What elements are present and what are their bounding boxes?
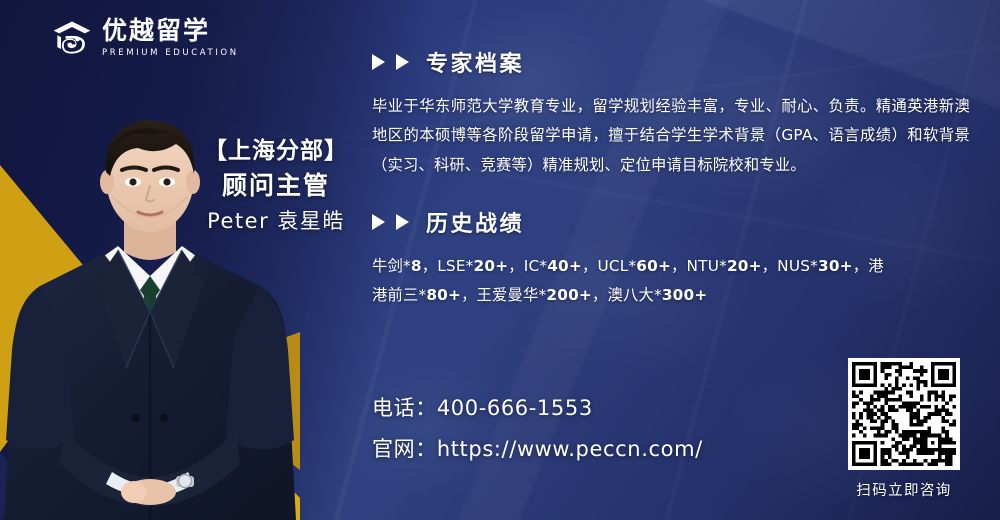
record-count: 20+	[727, 257, 762, 275]
record-separator: ，	[422, 257, 438, 275]
double-triangle-icon	[372, 214, 409, 230]
record-separator: ，	[461, 286, 477, 304]
graduation-cap-icon	[50, 16, 94, 60]
profile-content: 专家档案 毕业于华东师范大学教育专业，留学规划经验丰富，专业、耐心、负责。精通英…	[372, 46, 970, 311]
brand-logo-text: 优越留学 PREMIUM EDUCATION	[102, 18, 239, 57]
brand-name-en: PREMIUM EDUCATION	[102, 48, 239, 58]
section-title-profile: 专家档案	[426, 46, 524, 78]
phone-row: 电话：400-666-1553	[372, 388, 703, 429]
qr-caption: 扫码立即咨询	[843, 479, 965, 500]
record-school: 澳八大*	[607, 286, 661, 304]
consultant-identity: 【上海分部】 顾问主管 Peter 袁星皓	[178, 136, 374, 238]
record-count: 40+	[547, 257, 582, 275]
record-school: LSE*	[437, 257, 473, 275]
record-separator: ，	[592, 286, 608, 304]
record-separator: ，	[762, 257, 778, 275]
record-school: NUS*	[777, 257, 818, 275]
record-school: 王爱曼华*	[477, 286, 547, 304]
records-line: 港前三*80+，王爱曼华*200+，澳八大*300+	[372, 281, 970, 310]
consultant-name: Peter 袁星皓	[178, 205, 374, 239]
qr-block: 扫码立即咨询	[843, 358, 965, 500]
section-header-profile: 专家档案	[372, 46, 970, 78]
phone-value[interactable]: 400-666-1553	[437, 396, 593, 420]
section-title-records: 历史战绩	[426, 206, 524, 238]
records-list: 牛剑*8，LSE*20+，IC*40+，UCL*60+，NTU*20+，NUS*…	[372, 252, 970, 311]
double-triangle-icon	[372, 54, 409, 70]
record-school: 港前三*	[372, 286, 426, 304]
record-school: UCL*	[597, 257, 636, 275]
profile-description: 毕业于华东师范大学教育专业，留学规划经验丰富，专业、耐心、负责。精通英港新澳地区…	[372, 92, 970, 180]
role-title: 顾问主管	[178, 167, 374, 205]
brand-name-cn: 优越留学	[102, 18, 239, 44]
record-count: 200+	[546, 286, 592, 304]
record-count: 30+	[818, 257, 853, 275]
record-school: NTU*	[687, 257, 727, 275]
record-separator: ，	[508, 257, 524, 275]
record-separator: ，	[853, 257, 869, 275]
record-separator: ，	[582, 257, 598, 275]
record-school: 牛剑*	[372, 257, 411, 275]
qr-code-icon[interactable]	[848, 358, 960, 470]
phone-label: 电话：	[372, 396, 437, 420]
record-count: 60+	[636, 257, 671, 275]
website-row: 官网：https://www.peccn.com/	[372, 429, 703, 470]
branch-label: 【上海分部】	[178, 136, 374, 167]
record-wrap-head: 港	[868, 257, 884, 275]
record-school: IC*	[524, 257, 547, 275]
record-count: 8	[411, 257, 422, 275]
section-header-records: 历史战绩	[372, 206, 970, 238]
record-count: 20+	[474, 257, 509, 275]
records-line: 牛剑*8，LSE*20+，IC*40+，UCL*60+，NTU*20+，NUS*…	[372, 252, 970, 281]
contact-block: 电话：400-666-1553 官网：https://www.peccn.com…	[372, 388, 703, 470]
record-count: 80+	[426, 286, 461, 304]
record-separator: ，	[671, 257, 687, 275]
brand-logo: 优越留学 PREMIUM EDUCATION	[50, 16, 239, 60]
website-value[interactable]: https://www.peccn.com/	[437, 437, 703, 461]
website-label: 官网：	[372, 437, 437, 461]
record-count: 300+	[662, 286, 708, 304]
consultant-profile-card: 优越留学 PREMIUM EDUCATION 【上海分部】 顾问主管 Peter…	[0, 0, 1000, 520]
